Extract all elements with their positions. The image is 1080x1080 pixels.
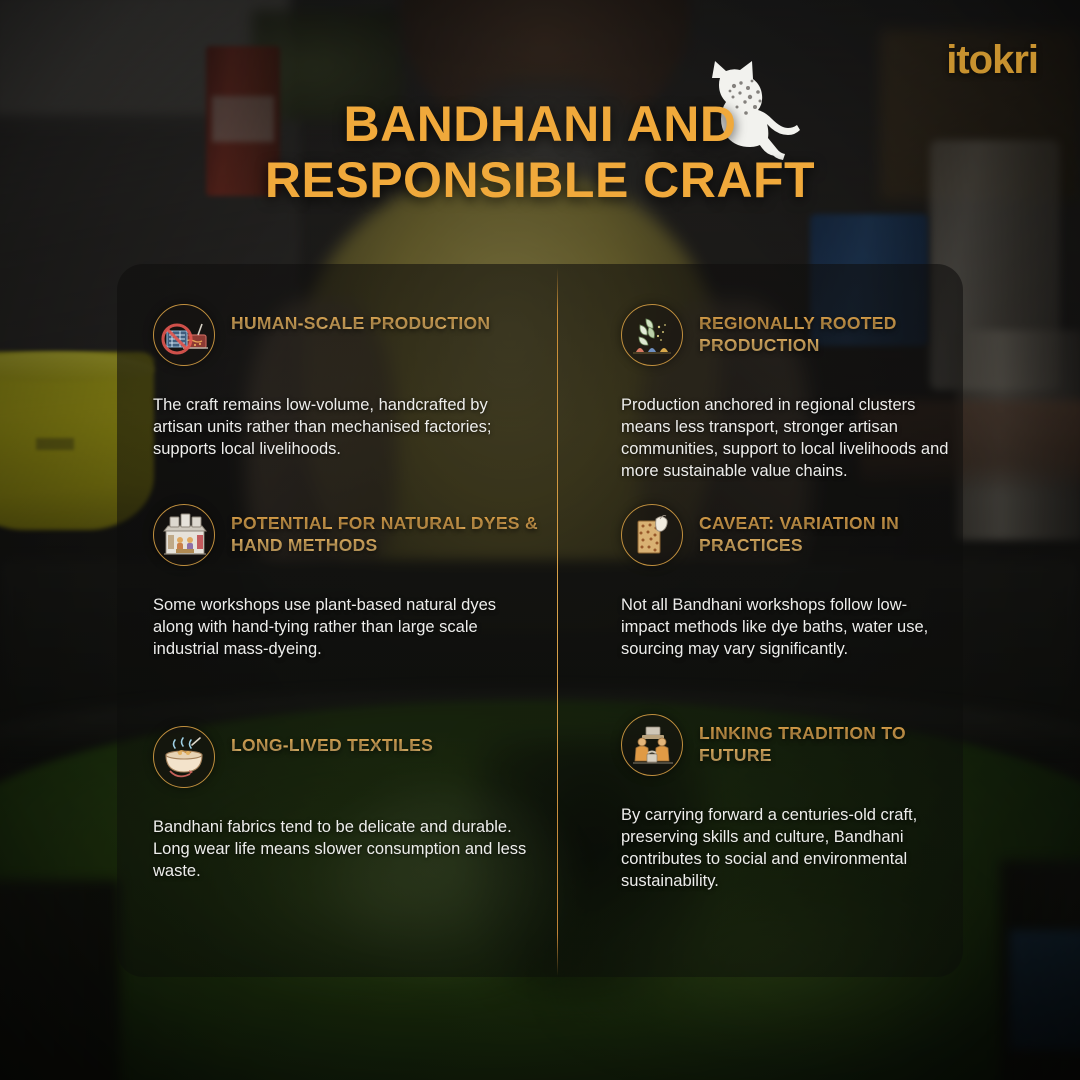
item-body: Some workshops use plant-based natural d… <box>153 594 539 660</box>
item-body: Bandhani fabrics tend to be delicate and… <box>153 816 539 882</box>
benefit-item-human-scale-production: HUMAN-SCALE PRODUCTION The craft remains… <box>117 264 557 464</box>
item-header: LINKING TRADITION TO FUTURE <box>621 674 949 776</box>
page-title: BANDHANI AND RESPONSIBLE CRAFT <box>0 96 1080 208</box>
two-artisans-working-icon <box>621 714 683 776</box>
item-body: Not all Bandhani workshops follow low-im… <box>621 594 949 660</box>
item-header: CAVEAT: VARIATION IN PRACTICES <box>621 464 949 566</box>
item-header: HUMAN-SCALE PRODUCTION <box>153 264 539 366</box>
item-header: REGIONALLY ROOTED PRODUCTION <box>621 264 949 366</box>
benefits-grid: HUMAN-SCALE PRODUCTION The craft remains… <box>117 264 963 977</box>
item-body: By carrying forward a centuries-old craf… <box>621 804 949 892</box>
artisan-workshop-building-icon <box>153 504 215 566</box>
steaming-dye-pot-icon <box>153 726 215 788</box>
item-body: The craft remains low-volume, handcrafte… <box>153 394 539 460</box>
benefit-item-natural-dyes-hand-methods: POTENTIAL FOR NATURAL DYES & HAND METHOD… <box>117 464 557 674</box>
item-title: CAVEAT: VARIATION IN PRACTICES <box>699 504 949 557</box>
item-title: LONG-LIVED TEXTILES <box>231 726 433 756</box>
item-title: REGIONALLY ROOTED PRODUCTION <box>699 304 949 357</box>
item-header: LONG-LIVED TEXTILES <box>153 674 539 788</box>
item-title: LINKING TRADITION TO FUTURE <box>699 714 949 767</box>
page-title-line1: BANDHANI AND <box>0 96 1080 152</box>
header: itokri BANDHANI AND RESPONSIBLE CRAFT <box>0 0 1080 250</box>
item-header: POTENTIAL FOR NATURAL DYES & HAND METHOD… <box>153 464 539 566</box>
benefit-item-caveat-variation-in-practices: CAVEAT: VARIATION IN PRACTICES Not all B… <box>557 464 963 674</box>
benefit-item-linking-tradition-to-future: LINKING TRADITION TO FUTURE By carrying … <box>557 674 963 977</box>
page-title-line2: RESPONSIBLE CRAFT <box>0 152 1080 208</box>
no-machine-factory-icon <box>153 304 215 366</box>
item-title: HUMAN-SCALE PRODUCTION <box>231 304 490 334</box>
item-title: POTENTIAL FOR NATURAL DYES & HAND METHOD… <box>231 504 539 557</box>
hand-holding-patterned-fabric-icon <box>621 504 683 566</box>
benefit-item-long-lived-textiles: LONG-LIVED TEXTILES Bandhani fabrics ten… <box>117 674 557 977</box>
benefit-item-regionally-rooted-production: REGIONALLY ROOTED PRODUCTION Production … <box>557 264 963 464</box>
brand-logo[interactable]: itokri <box>946 40 1038 80</box>
leaves-and-dye-piles-icon <box>621 304 683 366</box>
